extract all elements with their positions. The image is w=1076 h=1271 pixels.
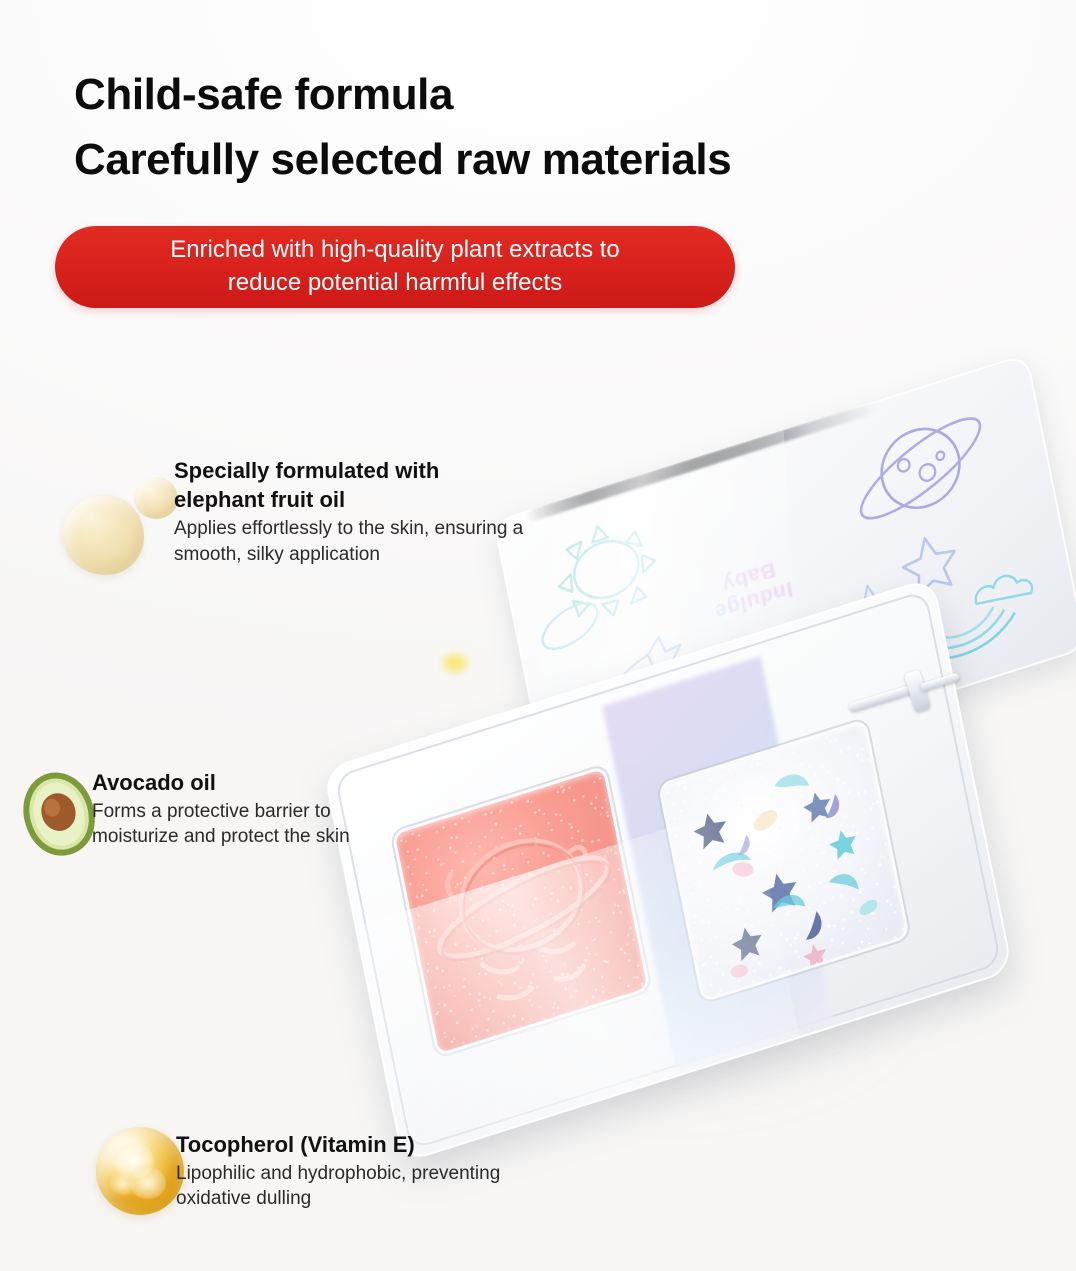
callout-avocado-oil: Avocado oil Forms a protective barrier t… [92, 768, 432, 850]
promo-banner: Enriched with high-quality plant extract… [55, 226, 735, 308]
callout-body-line-1: Forms a protective barrier to [92, 801, 331, 822]
callout-body-line-1: Lipophilic and hydrophobic, preventing [176, 1163, 500, 1184]
hinge-bar-right [920, 672, 961, 691]
callout-body-line-2: smooth, silky application [174, 544, 380, 565]
callout-title-line-1: Specially formulated with [174, 458, 439, 483]
promo-banner-line-1: Enriched with high-quality plant extract… [170, 234, 620, 267]
oil-droplet-small [134, 477, 178, 519]
callout-body-line-1: Applies effortlessly to the skin, ensuri… [174, 518, 523, 539]
callout-body-line-2: moisturize and protect the skin [92, 826, 350, 847]
callout-title: Avocado oil [92, 768, 432, 797]
capsule-highlight-3 [110, 1173, 136, 1195]
promo-banner-text: Enriched with high-quality plant extract… [144, 234, 646, 299]
saturn-planet-icon [831, 381, 1010, 557]
callout-title: Tocopherol (Vitamin E) [176, 1130, 606, 1159]
callout-body: Applies effortlessly to the skin, ensuri… [174, 516, 574, 567]
promo-banner-line-2: reduce potential harmful effects [170, 267, 620, 300]
callout-title: Specially formulated with elephant fruit… [174, 456, 574, 514]
callout-tocopherol: Tocopherol (Vitamin E) Lipophilic and hy… [176, 1130, 606, 1212]
callout-body-line-2: oxidative dulling [176, 1188, 311, 1209]
vitamin-capsule-icon [96, 1127, 184, 1215]
headline-line-1: Child-safe formula [74, 62, 1014, 127]
oil-droplet-large [62, 495, 144, 575]
compact-base [323, 577, 1014, 1164]
oil-droplet-accent [438, 650, 472, 676]
callout-elephant-fruit-oil: Specially formulated with elephant fruit… [174, 456, 574, 567]
page-title: Child-safe formula Carefully selected ra… [74, 62, 1014, 192]
callout-body: Forms a protective barrier to moisturize… [92, 799, 432, 850]
callout-title-line-2: elephant fruit oil [174, 487, 345, 512]
callout-body: Lipophilic and hydrophobic, preventing o… [176, 1161, 606, 1212]
headline-line-2: Carefully selected raw materials [74, 127, 1014, 192]
